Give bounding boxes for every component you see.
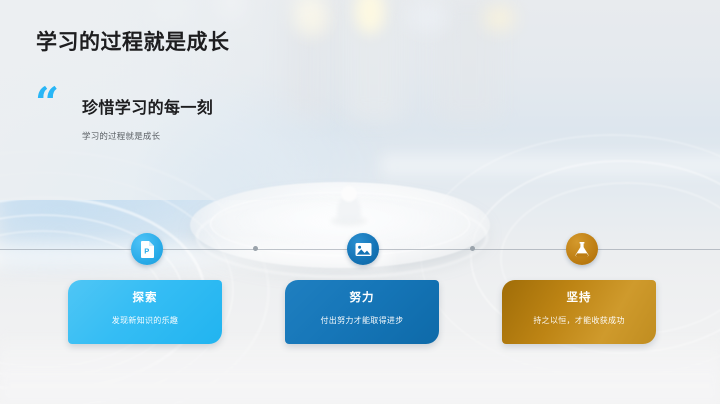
presentation-slide: 学习的过程就是成长 “ 珍惜学习的每一刻 学习的过程就是成长 P	[0, 0, 720, 404]
timeline-icon-explore[interactable]: P	[131, 233, 163, 265]
page-title: 学习的过程就是成长	[36, 26, 230, 56]
flask-beaker-icon	[574, 241, 590, 258]
card-title: 探索	[68, 291, 222, 305]
quote-heading: 珍惜学习的每一刻	[82, 94, 213, 118]
svg-text:P: P	[144, 246, 149, 255]
timeline-icon-persistence[interactable]	[566, 233, 598, 265]
card-title: 坚持	[502, 291, 656, 305]
card-description: 持之以恒，才能收获成功	[502, 315, 656, 326]
timeline-dot	[470, 246, 475, 251]
card-persistence[interactable]: 坚持 持之以恒，才能收获成功	[502, 280, 656, 344]
image-picture-icon	[355, 242, 372, 257]
card-explore[interactable]: 探索 发现新知识的乐趣	[68, 280, 222, 344]
quote-mark-icon: “	[35, 90, 59, 116]
card-effort[interactable]: 努力 付出努力才能取得进步	[285, 280, 439, 344]
timeline-icon-effort[interactable]	[347, 233, 379, 265]
card-description: 付出努力才能取得进步	[285, 315, 439, 326]
quote-subtitle: 学习的过程就是成长	[82, 130, 160, 142]
chess-piece-silhouette	[341, 186, 357, 202]
card-description: 发现新知识的乐趣	[68, 315, 222, 326]
timeline-dot	[253, 246, 258, 251]
file-document-p-icon: P	[140, 241, 155, 258]
card-title: 努力	[285, 291, 439, 305]
